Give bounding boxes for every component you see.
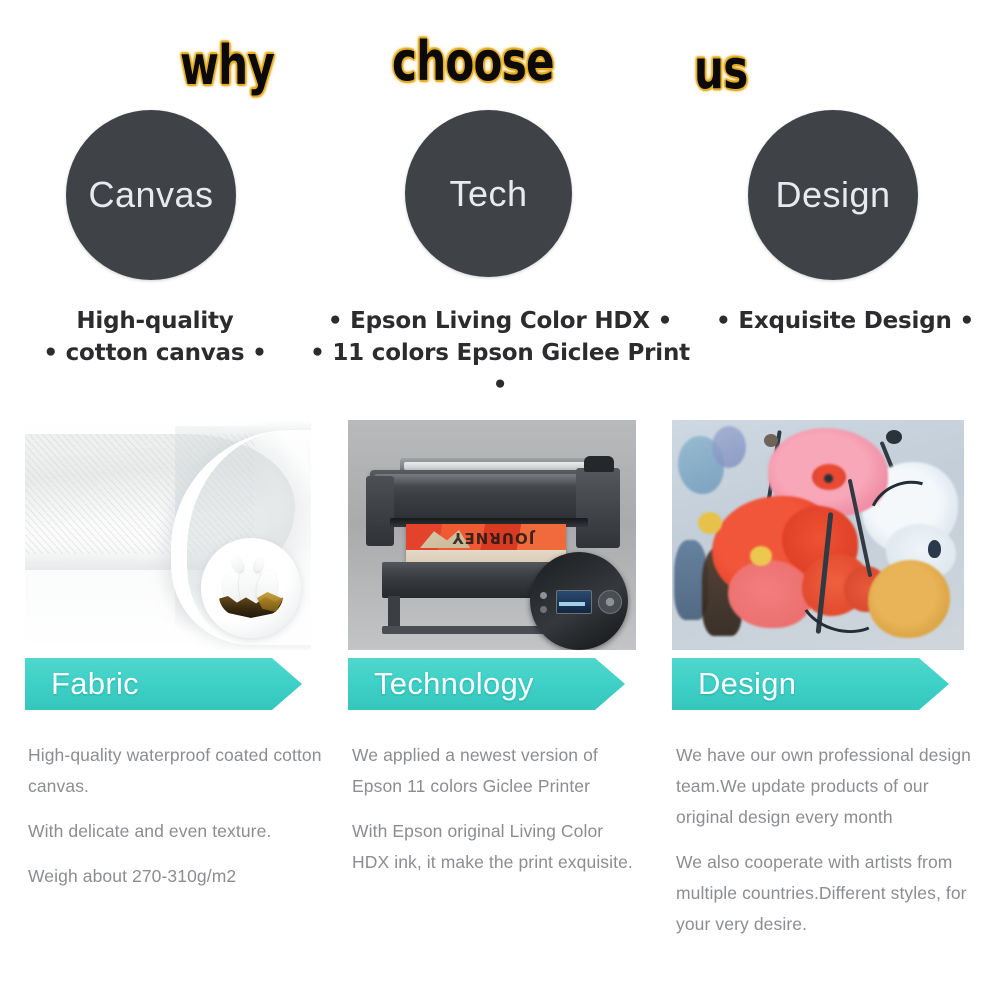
photo-printer: JOURNEY [348,420,636,650]
circle-badge-canvas: Canvas [66,110,236,280]
circle-badge-design: Design [748,110,918,280]
description-technology: We applied a newest version of Epson 11 … [352,740,644,878]
printed-artwork-text: JOURNEY [438,527,548,547]
description-paragraph: High-quality waterproof coated cotton ca… [28,740,323,802]
photo-canvas-roll [25,420,311,650]
circle-badge-tech: Tech [405,110,572,277]
description-paragraph: We have our own professional design team… [676,740,981,833]
paint-stroke-violet [712,426,746,468]
flower-bud [764,434,778,447]
description-paragraph: With delicate and even texture. [28,816,323,847]
printer-top-bar [404,462,590,470]
banner-fabric: Fabric [25,658,302,710]
flower-yellow-center [750,546,772,566]
description-paragraph: We also cooperate with artists from mult… [676,847,981,940]
column-fabric [25,420,325,650]
flower-yellow-center [698,512,722,534]
banner-technology: Technology [348,658,625,710]
infographic-page: why choose us Canvas Tech Design High-qu… [0,0,1000,1000]
feature-caption-design: • Exquisite Design • [700,305,990,337]
printer-left-cap [366,476,394,546]
cotton-boll-icon [221,556,283,616]
photo-floral-painting [672,420,964,650]
banner-fabric-label: Fabric [25,666,139,702]
printer-button-icon [540,592,547,599]
flower-pink-dot [824,474,833,483]
printer-right-cap [576,468,620,548]
circle-badge-canvas-label: Canvas [88,174,213,216]
description-paragraph: With Epson original Living Color HDX ink… [352,816,644,878]
painting-canvas [672,420,964,650]
description-fabric: High-quality waterproof coated cotton ca… [28,740,323,892]
circle-badge-design-label: Design [775,174,890,216]
headline: why choose us [0,30,1000,102]
printer-handle [584,456,614,472]
feature-caption-canvas-line2: • cotton canvas • [20,337,290,369]
flower-bud [886,430,902,444]
column-design [672,420,972,650]
printer-button-icon [540,606,547,613]
headline-word-us: us [694,40,748,100]
description-paragraph: We applied a newest version of Epson 11 … [352,740,644,802]
feature-caption-design-line1: • Exquisite Design • [700,305,990,337]
banner-design: Design [672,658,949,710]
circle-badge-tech-label: Tech [449,173,527,215]
flower-bud [928,540,941,558]
feature-caption-tech: • Epson Living Color HDX • • 11 colors E… [305,305,695,401]
headline-word-choose: choose [392,32,554,92]
printer-dpad-icon [598,590,622,614]
feature-caption-canvas-line1: High-quality [20,305,290,337]
cotton-puff [253,557,265,573]
printer-screen-line [559,602,585,606]
banner-technology-label: Technology [348,666,534,702]
printed-canvas-sheet: JOURNEY [406,524,566,566]
printer-control-panel-inset [530,552,628,650]
feature-caption-canvas: High-quality • cotton canvas • [20,305,290,369]
description-design: We have our own professional design team… [676,740,981,940]
headline-word-why: why [180,36,274,96]
feature-caption-tech-line1: • Epson Living Color HDX • [305,305,695,337]
printer-body-highlight [374,474,610,486]
feature-caption-tech-line2: • 11 colors Epson Giclee Print • [305,337,695,401]
column-technology: JOURNEY [348,420,648,650]
description-paragraph: Weigh about 270-310g/m2 [28,861,323,892]
banner-design-label: Design [672,666,796,702]
